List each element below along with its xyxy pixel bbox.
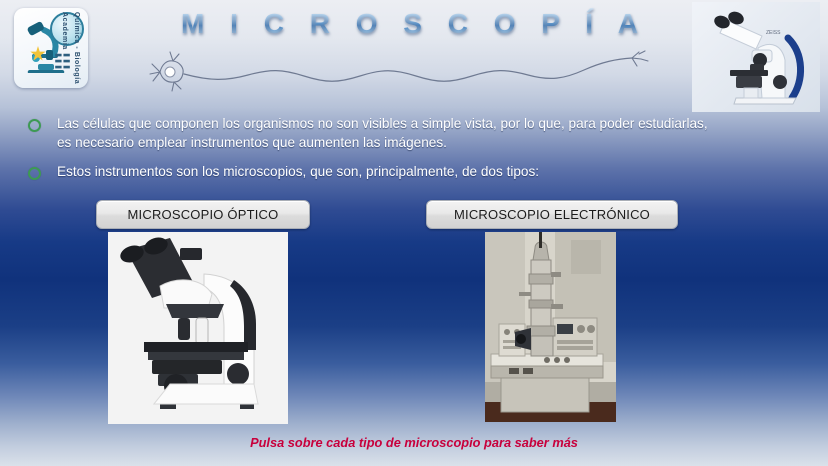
list-item: Estos instrumentos son los microscopios,… (20, 162, 810, 181)
svg-text:ZEISS: ZEISS (766, 30, 781, 36)
neuron-icon (140, 48, 670, 96)
microscopio-electronico-button[interactable]: MICROSCOPIO ELECTRÓNICO (426, 200, 678, 229)
bullet-list: Las células que componen los organismos … (20, 114, 810, 191)
bullet-1-line-1: Las células que componen los organismos … (57, 114, 708, 133)
footnote-instruction: Pulsa sobre cada tipo de microscopio par… (0, 435, 828, 450)
microscopio-optico-button[interactable]: MICROSCOPIO ÓPTICO (96, 200, 310, 229)
electron-microscope-photo[interactable] (485, 232, 616, 422)
slide-canvas: ☷ Academia Química - Biología M I C R O … (0, 0, 828, 466)
list-item: Las células que componen los organismos … (20, 114, 810, 152)
bullet-2-line-1: Estos instrumentos son los microscopios,… (57, 162, 539, 181)
ring-bullet-icon (28, 167, 41, 180)
bullet-text: Las células que componen los organismos … (57, 114, 708, 152)
bullet-text: Estos instrumentos son los microscopios,… (57, 162, 539, 181)
bullet-1-line-2: es necesario emplear instrumentos que au… (57, 133, 708, 152)
zeiss-microscope-photo: ZEISS (692, 2, 820, 112)
ring-bullet-icon (28, 119, 41, 132)
optical-microscope-photo[interactable] (108, 232, 288, 424)
